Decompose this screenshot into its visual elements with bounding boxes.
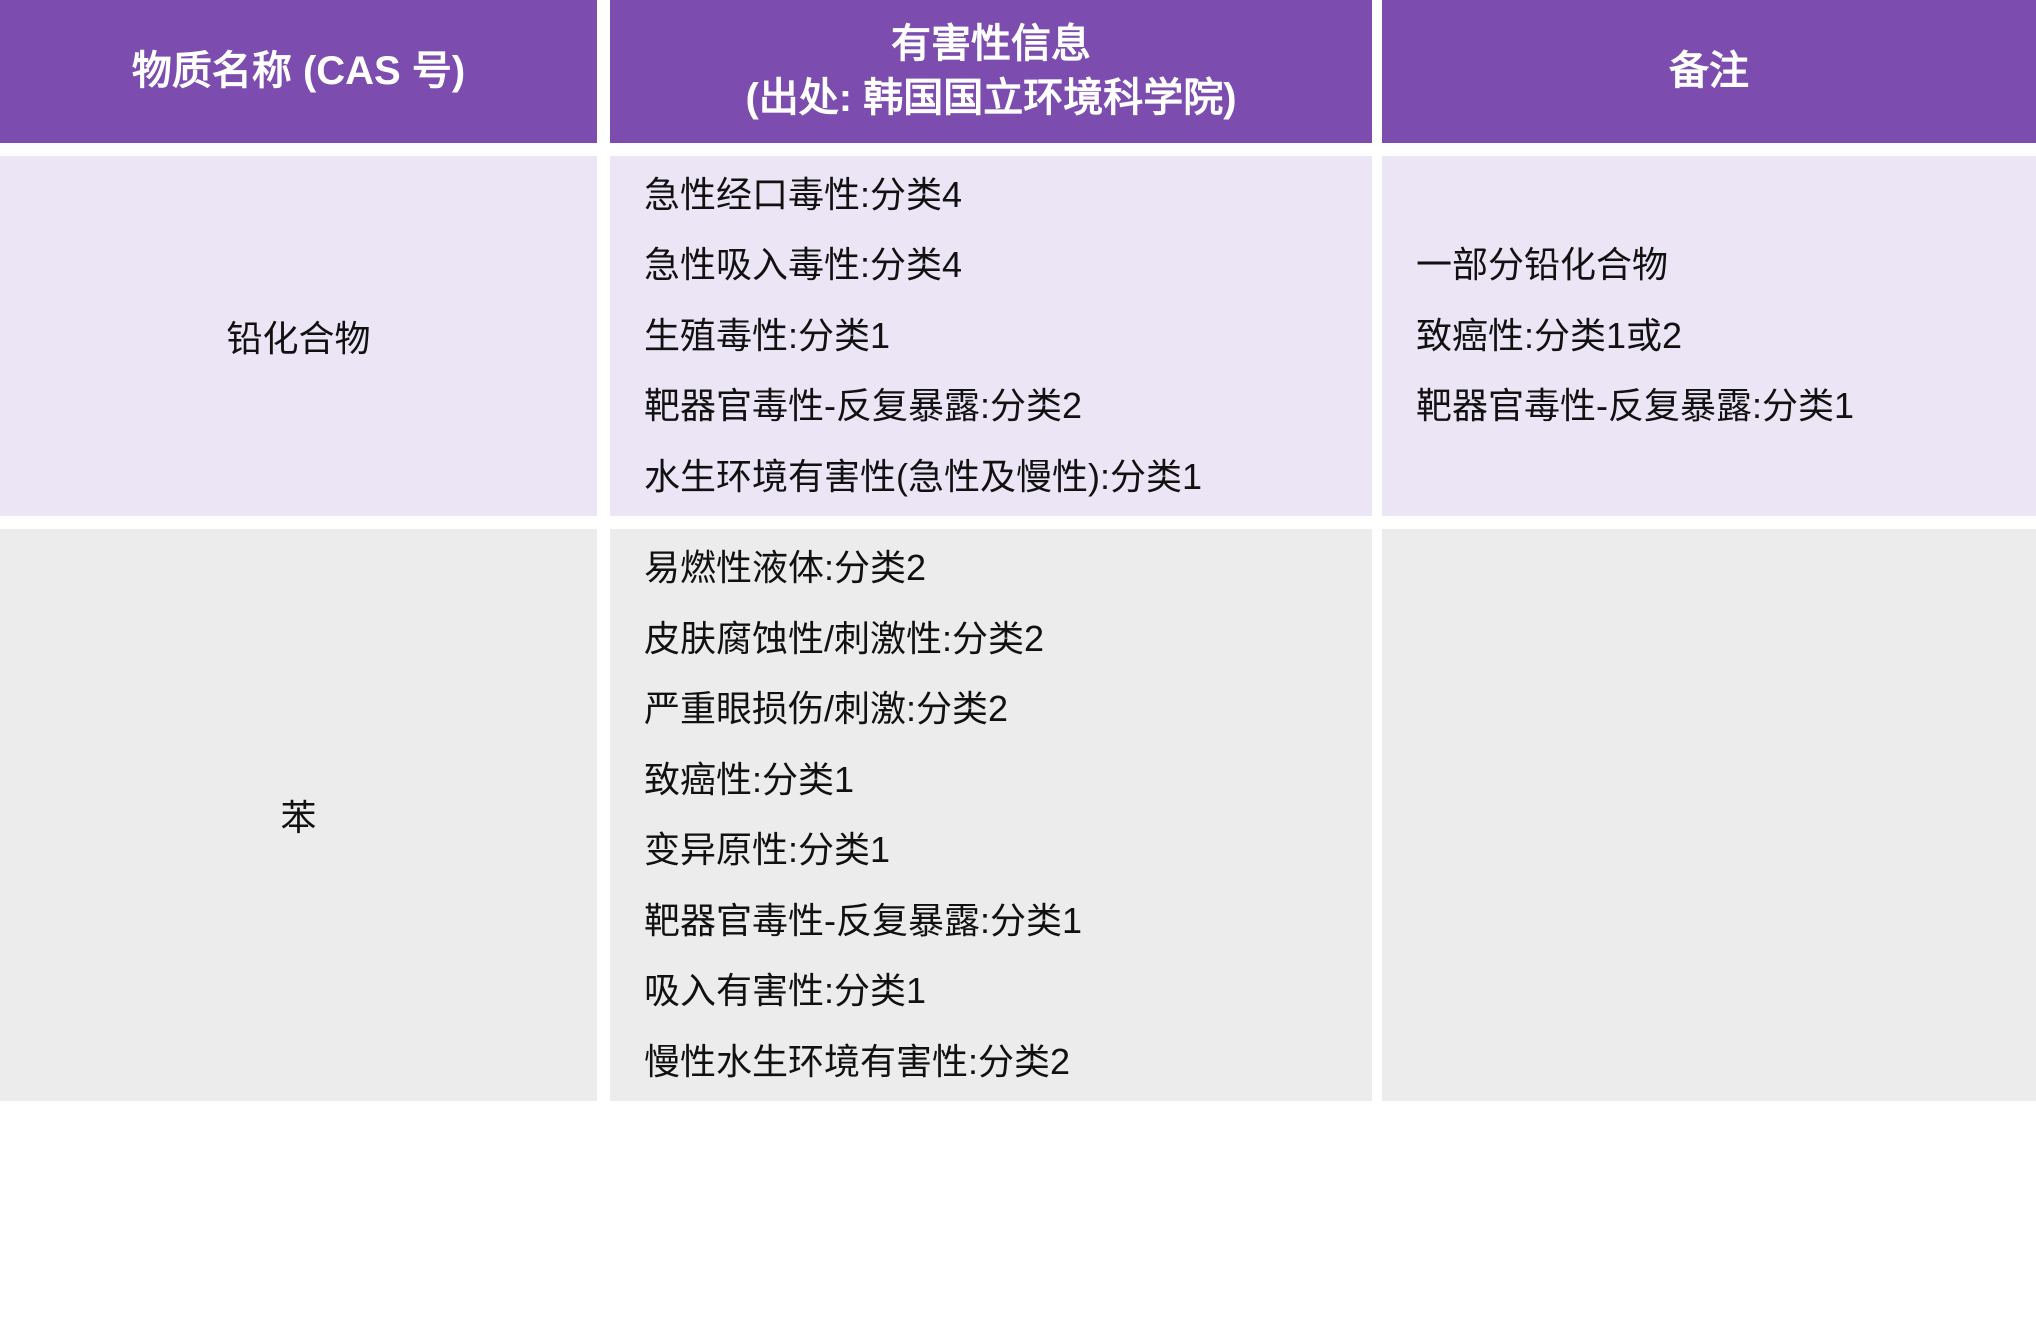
row-gutter-1 (597, 529, 610, 1101)
hazard-entry: 变异原性:分类1 (644, 829, 1372, 871)
cell-remarks-list (1382, 529, 2036, 1101)
cell-hazard-list: 急性经口毒性:分类4急性吸入毒性:分类4生殖毒性:分类1靶器官毒性-反复暴露:分… (610, 156, 1372, 516)
hazard-entry: 致癌性:分类1 (644, 759, 1372, 801)
hazard-entry: 易燃性液体:分类2 (644, 547, 1372, 589)
column-header-remarks: 备注 (1382, 0, 2036, 143)
hazard-entry: 皮肤腐蚀性/刺激性:分类2 (644, 618, 1372, 660)
column-header-remarks-label: 备注 (1669, 49, 1749, 93)
header-gutter-1 (597, 0, 610, 143)
hazard-entry: 严重眼损伤/刺激:分类2 (644, 688, 1372, 730)
hazard-entry: 靶器官毒性-反复暴露:分类2 (644, 385, 1372, 427)
hazard-entry: 一部分铅化合物 (1416, 244, 2036, 286)
column-header-substance: 物质名称 (CAS 号) (0, 0, 597, 143)
hazard-entry: 急性吸入毒性:分类4 (644, 244, 1372, 286)
hazard-information-table: 物质名称 (CAS 号) 有害性信息 (出处: 韩国国立环境科学院) 备注 铅化… (0, 0, 2036, 1101)
hazard-entry: 生殖毒性:分类1 (644, 315, 1372, 357)
column-header-substance-label: 物质名称 (CAS 号) (132, 49, 465, 93)
header-body-gap (0, 143, 2036, 156)
cell-substance-name: 铅化合物 (0, 156, 597, 516)
column-header-hazard: 有害性信息 (出处: 韩国国立环境科学院) (610, 0, 1372, 143)
hazard-entry: 靶器官毒性-反复暴露:分类1 (1416, 385, 2036, 427)
row-gutter-2 (1372, 156, 1382, 516)
table-header: 物质名称 (CAS 号) 有害性信息 (出处: 韩国国立环境科学院) 备注 (0, 0, 2036, 143)
table-row: 苯 易燃性液体:分类2皮肤腐蚀性/刺激性:分类2严重眼损伤/刺激:分类2致癌性:… (0, 529, 2036, 1101)
hazard-entry: 靶器官毒性-反复暴露:分类1 (644, 900, 1372, 942)
column-header-hazard-label: 有害性信息 (891, 22, 1091, 66)
hazard-entry: 慢性水生环境有害性:分类2 (644, 1041, 1372, 1083)
column-header-hazard-source: (出处: 韩国国立环境科学院) (622, 72, 1360, 125)
hazard-entry: 致癌性:分类1或2 (1416, 315, 2036, 357)
hazard-list: 易燃性液体:分类2皮肤腐蚀性/刺激性:分类2严重眼损伤/刺激:分类2致癌性:分类… (644, 547, 1372, 1083)
cell-remarks-list: 一部分铅化合物致癌性:分类1或2靶器官毒性-反复暴露:分类1 (1382, 156, 2036, 516)
header-gutter-2 (1372, 0, 1382, 143)
hazard-entry: 吸入有害性:分类1 (644, 970, 1372, 1012)
row-gutter-2 (1372, 529, 1382, 1101)
hazard-entry: 水生环境有害性(急性及慢性):分类1 (644, 456, 1372, 498)
table-row: 铅化合物 急性经口毒性:分类4急性吸入毒性:分类4生殖毒性:分类1靶器官毒性-反… (0, 156, 2036, 516)
table-body: 铅化合物 急性经口毒性:分类4急性吸入毒性:分类4生殖毒性:分类1靶器官毒性-反… (0, 143, 2036, 1101)
row-gutter-1 (597, 156, 610, 516)
cell-hazard-list: 易燃性液体:分类2皮肤腐蚀性/刺激性:分类2严重眼损伤/刺激:分类2致癌性:分类… (610, 529, 1372, 1101)
hazard-entry: 急性经口毒性:分类4 (644, 174, 1372, 216)
cell-substance-name: 苯 (0, 529, 597, 1101)
row-separator-gap (0, 516, 2036, 529)
remarks-list: 一部分铅化合物致癌性:分类1或2靶器官毒性-反复暴露:分类1 (1416, 244, 2036, 427)
hazard-list: 急性经口毒性:分类4急性吸入毒性:分类4生殖毒性:分类1靶器官毒性-反复暴露:分… (644, 174, 1372, 498)
header-row: 物质名称 (CAS 号) 有害性信息 (出处: 韩国国立环境科学院) 备注 (0, 0, 2036, 143)
